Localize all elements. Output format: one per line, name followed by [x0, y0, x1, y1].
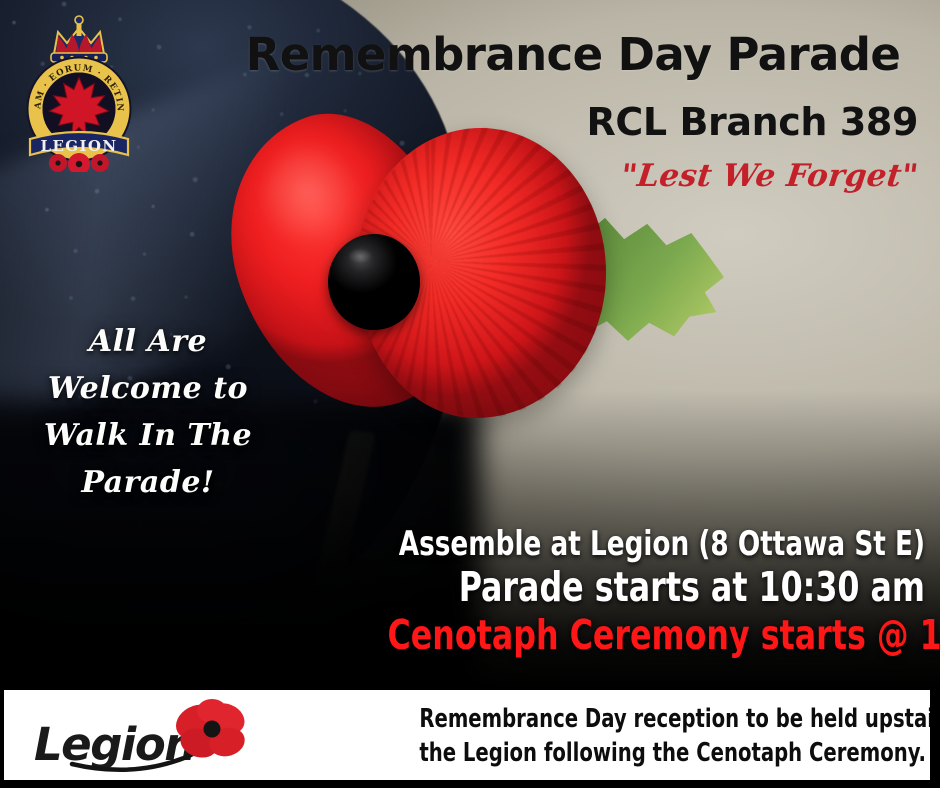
cenotaph-ceremony-time: Cenotaph Ceremony starts @ 11 am: [388, 611, 926, 659]
bottom-banner: Legion Remembrance Day reception to be h…: [4, 690, 930, 780]
poppy-center-button: [328, 234, 420, 330]
welcome-message: All Are Welcome to Walk In The Parade!: [22, 318, 274, 506]
motto-text: "Lest We Forget": [226, 158, 940, 194]
crest-poppies: [49, 153, 109, 172]
legion-wordmark-logo: Legion: [30, 698, 265, 774]
branch-subtitle: RCL Branch 389: [228, 100, 930, 144]
welcome-line-1: All Are: [22, 318, 274, 365]
reception-note: Remembrance Day reception to be held ups…: [419, 702, 920, 770]
assemble-location: Assemble at Legion (8 Ottawa St E): [388, 524, 926, 564]
welcome-line-3: Walk In The: [22, 412, 274, 459]
legion-crest-logo: MEMORIAM · EORUM · RETINEBIMUS LEGION: [14, 12, 144, 172]
parade-start-time: Parade starts at 10:30 am: [388, 564, 926, 611]
reception-line-1: Remembrance Day reception to be held ups…: [419, 702, 920, 736]
crown-icon: [51, 16, 107, 62]
welcome-line-4: Parade!: [22, 459, 274, 506]
reception-line-2: the Legion following the Cenotaph Ceremo…: [419, 736, 920, 770]
event-details: Assemble at Legion (8 Ottawa St E) Parad…: [300, 524, 925, 659]
page-title: Remembrance Day Parade: [228, 28, 918, 81]
welcome-line-2: Welcome to: [22, 365, 274, 412]
remembrance-day-poster: MEMORIAM · EORUM · RETINEBIMUS LEGION: [0, 0, 940, 788]
legion-poppy-icon: [170, 698, 249, 762]
crest-banner-text: LEGION: [41, 137, 118, 155]
legion-scroll-banner: LEGION: [30, 132, 128, 155]
